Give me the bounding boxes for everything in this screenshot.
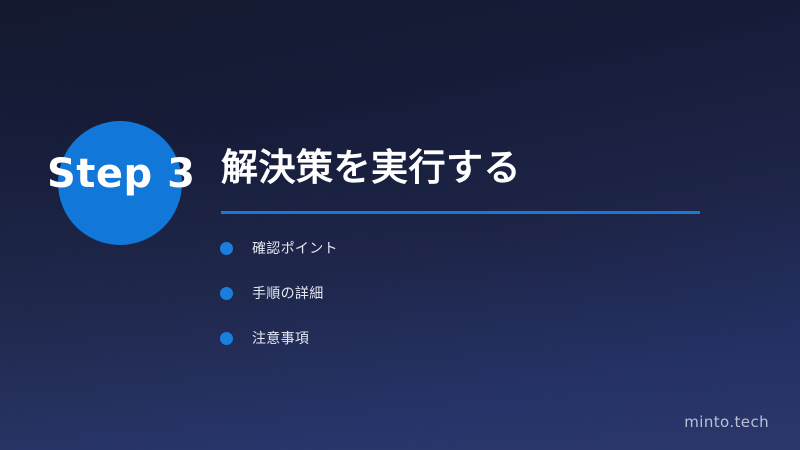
bullet-list: 確認ポイント 手順の詳細 注意事項: [220, 238, 338, 373]
slide-title: 解決策を実行する: [221, 145, 521, 191]
bullet-dot-icon: [220, 242, 233, 255]
step-badge-label: Step 3: [47, 152, 195, 196]
list-item: 注意事項: [220, 328, 338, 349]
bullet-label: 確認ポイント: [252, 239, 338, 259]
presentation-slide: Step 3 解決策を実行する 確認ポイント 手順の詳細 注意事項 minto.…: [0, 0, 800, 450]
bullet-label: 手順の詳細: [252, 284, 324, 304]
bullet-dot-icon: [220, 287, 233, 300]
list-item: 確認ポイント: [220, 238, 338, 259]
bullet-label: 注意事項: [252, 329, 309, 349]
list-item: 手順の詳細: [220, 283, 338, 304]
footer-brand: minto.tech: [684, 413, 769, 431]
bullet-dot-icon: [220, 332, 233, 345]
title-divider: [221, 211, 700, 214]
